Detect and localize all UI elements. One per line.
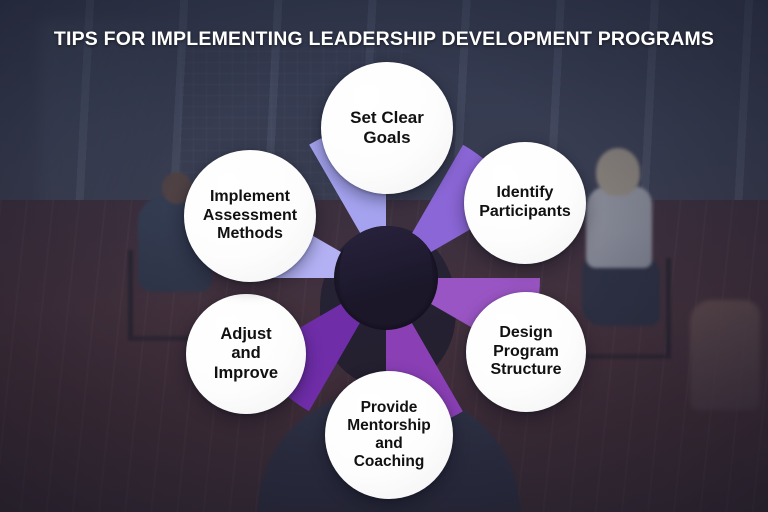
bubble-label: ImplementAssessmentMethods bbox=[203, 188, 297, 244]
bubble-label: ProvideMentorshipandCoaching bbox=[347, 399, 431, 471]
bubble-label: Set ClearGoals bbox=[350, 108, 424, 147]
bubble-label: IdentifyParticipants bbox=[479, 184, 571, 221]
bubble-set-clear-goals[interactable]: Set ClearGoals bbox=[321, 62, 453, 194]
bubble-adjust-and-improve[interactable]: AdjustandImprove bbox=[186, 294, 306, 414]
bubble-label: AdjustandImprove bbox=[214, 325, 278, 382]
bubble-design-program-structure[interactable]: DesignProgramStructure bbox=[466, 292, 586, 412]
center-hub bbox=[334, 226, 438, 330]
bubble-implement-assessment-methods[interactable]: ImplementAssessmentMethods bbox=[184, 150, 316, 282]
bubble-label: DesignProgramStructure bbox=[490, 324, 561, 380]
page-title: TIPS FOR IMPLEMENTING LEADERSHIP DEVELOP… bbox=[0, 28, 768, 51]
bubble-provide-mentorship-and-coaching[interactable]: ProvideMentorshipandCoaching bbox=[325, 371, 453, 499]
infographic-canvas: TIPS FOR IMPLEMENTING LEADERSHIP DEVELOP… bbox=[0, 0, 768, 512]
bubble-identify-participants[interactable]: IdentifyParticipants bbox=[464, 142, 586, 264]
hub-photo bbox=[340, 226, 432, 324]
